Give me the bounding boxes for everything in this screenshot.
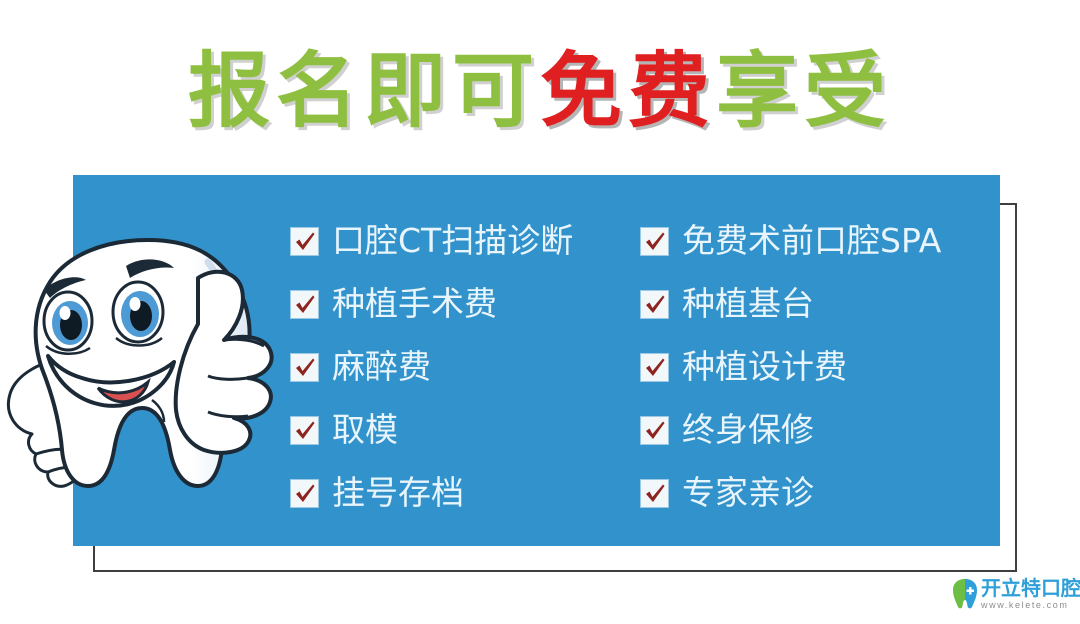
list-item-label: 种植手术费 — [332, 285, 497, 323]
checklist-column-right: 免费术前口腔SPA 种植基台 种植设计费 — [641, 189, 991, 534]
list-item-label: 免费术前口腔SPA — [682, 222, 941, 260]
list-item[interactable]: 取模 — [291, 406, 641, 454]
list-item[interactable]: 种植手术费 — [291, 280, 641, 328]
benefits-checklist: 口腔CT扫描诊断 种植手术费 麻醉费 — [291, 189, 991, 534]
list-item-label: 终身保修 — [682, 411, 814, 449]
list-item[interactable]: 免费术前口腔SPA — [641, 217, 991, 265]
checklist-column-left: 口腔CT扫描诊断 种植手术费 麻醉费 — [291, 189, 641, 534]
check-mark-icon — [641, 354, 668, 381]
list-item-label: 种植设计费 — [682, 348, 847, 386]
tooth-logo-icon — [952, 578, 978, 610]
list-item-label: 挂号存档 — [332, 474, 464, 512]
list-item[interactable]: 种植设计费 — [641, 343, 991, 391]
brand-logo: 开立特口腔® www.kelete.com — [952, 570, 1080, 618]
check-mark-icon — [641, 480, 668, 507]
list-item[interactable]: 麻醉费 — [291, 343, 641, 391]
brand-text-block: 开立特口腔® www.kelete.com — [981, 577, 1080, 611]
title-segment-green-2: 享受 — [716, 44, 892, 139]
smiling-tooth-thumbs-up-icon — [2, 228, 298, 528]
list-item-label: 种植基台 — [682, 285, 814, 323]
page-title: 报名即可免费享受 — [0, 44, 1080, 140]
title-segment-red: 免费 — [540, 44, 716, 139]
brand-url: www.kelete.com — [981, 599, 1080, 611]
list-item-label: 麻醉费 — [332, 348, 431, 386]
check-mark-icon — [641, 291, 668, 318]
brand-name: 开立特口腔® — [981, 577, 1080, 599]
list-item-label: 口腔CT扫描诊断 — [332, 222, 573, 260]
title-segment-green-1: 报名即可 — [188, 44, 540, 139]
check-mark-icon — [641, 228, 668, 255]
promo-poster: 报名即可免费享受 口腔CT扫描诊断 种植手术费 — [0, 0, 1080, 624]
list-item[interactable]: 种植基台 — [641, 280, 991, 328]
list-item[interactable]: 挂号存档 — [291, 469, 641, 517]
list-item-label: 取模 — [332, 411, 398, 449]
brand-name-text: 开立特口腔 — [981, 576, 1080, 600]
list-item[interactable]: 专家亲诊 — [641, 469, 991, 517]
list-item[interactable]: 终身保修 — [641, 406, 991, 454]
check-mark-icon — [641, 417, 668, 444]
list-item-label: 专家亲诊 — [682, 474, 814, 512]
list-item[interactable]: 口腔CT扫描诊断 — [291, 217, 641, 265]
